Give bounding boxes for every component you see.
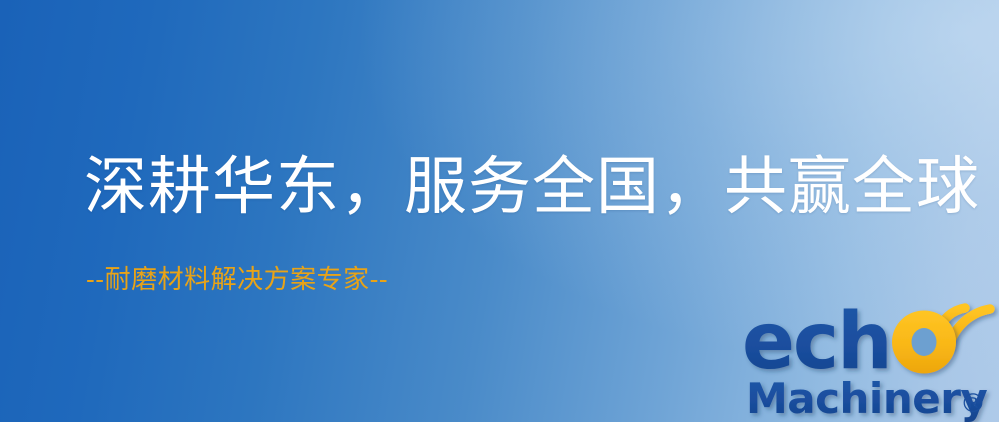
promo-banner: 深耕华东，服务全国，共赢全球 --耐磨材料解决方案专家-- <box>0 0 999 422</box>
logo-artwork: ech Machinery ® <box>742 296 999 422</box>
banner-headline: 深耕华东，服务全国，共赢全球 <box>84 152 980 223</box>
logo-wordmark-o <box>892 311 956 374</box>
trademark-symbol: ® <box>960 389 986 419</box>
logo-tagline: Machinery <box>746 374 987 422</box>
banner-subtitle: --耐磨材料解决方案专家-- <box>86 264 388 297</box>
echo-machinery-logo[interactable]: ech Machinery ® <box>742 296 999 422</box>
